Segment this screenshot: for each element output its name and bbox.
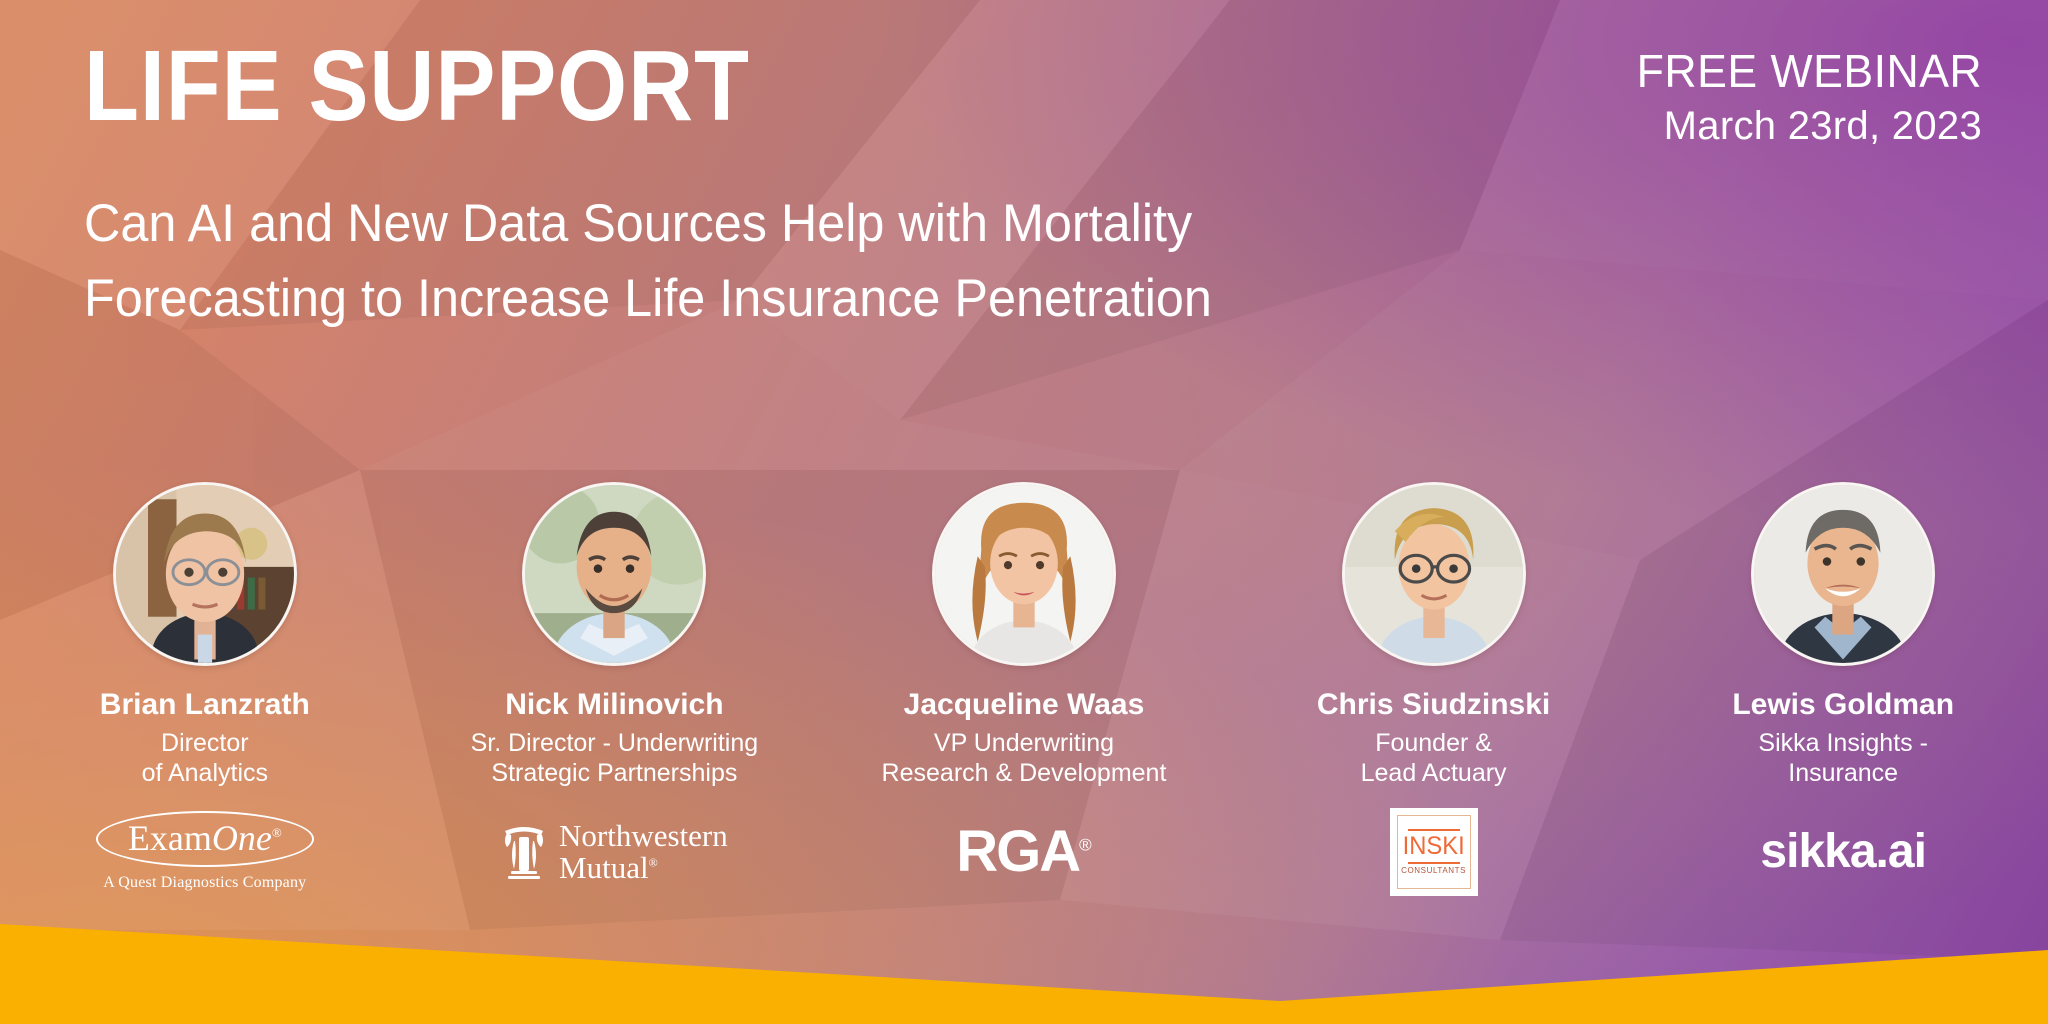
speaker-card: Chris Siudzinski Founder & Lead Actuary …: [1239, 482, 1629, 895]
speaker-role: Sikka Insights - Insurance: [1758, 728, 1928, 789]
page-title: LIFE SUPPORT: [84, 36, 750, 136]
rga-logo: RGA®: [956, 823, 1091, 881]
speaker-name: Lewis Goldman: [1732, 688, 1954, 722]
speaker-name: Nick Milinovich: [505, 688, 723, 722]
nwm-name-part1: Northwestern: [559, 820, 728, 852]
inski-consultants-logo: INSKI CONSULTANTS: [1390, 808, 1478, 896]
company-logo: sikka.ai: [1760, 809, 1925, 895]
speaker-name: Brian Lanzrath: [100, 688, 310, 722]
company-logo: ExamOne® A Quest Diagnostics Company: [96, 809, 314, 895]
speaker-role-line-2: Research & Development: [882, 758, 1167, 789]
company-logo: INSKI CONSULTANTS: [1390, 809, 1478, 895]
webinar-date: March 23rd, 2023: [1626, 101, 1982, 151]
speaker-role-line-1: Director: [142, 728, 268, 759]
speaker-role-line-1: Founder &: [1361, 728, 1507, 759]
speaker-name: Chris Siudzinski: [1317, 688, 1550, 722]
rga-wordmark: RGA: [956, 819, 1079, 884]
speaker-role-line-1: VP Underwriting: [882, 728, 1167, 759]
speaker-role: Director of Analytics: [142, 728, 268, 789]
speaker-role: VP Underwriting Research & Development: [882, 728, 1167, 789]
company-logo: RGA®: [956, 809, 1091, 895]
speaker-role-line-1: Sr. Director - Underwriting: [471, 728, 759, 759]
registered-mark: ®: [649, 855, 658, 869]
avatar: [1342, 482, 1526, 666]
bottom-accent-band: [0, 894, 2048, 1024]
examone-wordmark: ExamOne®: [96, 811, 314, 867]
inski-subtitle: CONSULTANTS: [1401, 866, 1466, 875]
speaker-name: Jacqueline Waas: [904, 688, 1145, 722]
avatar: [1751, 482, 1935, 666]
company-logo: Northwestern Mutual®: [501, 809, 728, 895]
webinar-label: FREE WEBINAR: [1637, 46, 1982, 97]
avatar: [522, 482, 706, 666]
speaker-card: Brian Lanzrath Director of Analytics Exa…: [10, 482, 400, 895]
inski-rule-bottom: [1408, 862, 1460, 864]
inski-wordmark: INSKI: [1403, 834, 1465, 859]
northwestern-mutual-logo: Northwestern Mutual®: [501, 820, 728, 883]
webinar-info: FREE WEBINAR March 23rd, 2023: [1626, 46, 1982, 151]
ionic-column-icon: [501, 821, 547, 883]
webinar-banner: LIFE SUPPORT FREE WEBINAR March 23rd, 20…: [0, 0, 2048, 1024]
speaker-role-line-2: Lead Actuary: [1361, 758, 1507, 789]
speaker-role-line-2: Insurance: [1758, 758, 1928, 789]
registered-mark: ®: [1079, 835, 1092, 854]
speaker-role: Founder & Lead Actuary: [1361, 728, 1507, 789]
speaker-role-line-2: of Analytics: [142, 758, 268, 789]
subtitle-line-1: Can AI and New Data Sources Help with Mo…: [84, 186, 1433, 261]
registered-mark: ®: [272, 825, 282, 840]
nwm-name-part2: Mutual: [559, 850, 649, 885]
sikka-ai-logo: sikka.ai: [1760, 828, 1925, 876]
speaker-card: Lewis Goldman Sikka Insights - Insurance…: [1648, 482, 2038, 895]
speaker-list: Brian Lanzrath Director of Analytics Exa…: [0, 482, 2048, 895]
avatar: [932, 482, 1116, 666]
subtitle-line-2: Forecasting to Increase Life Insurance P…: [84, 261, 1433, 336]
speaker-role: Sr. Director - Underwriting Strategic Pa…: [471, 728, 759, 789]
webinar-subtitle: Can AI and New Data Sources Help with Mo…: [84, 186, 1433, 337]
examone-tagline: A Quest Diagnostics Company: [103, 874, 306, 892]
examone-name-part2: One: [212, 818, 272, 858]
speaker-role-line-2: Strategic Partnerships: [471, 758, 759, 789]
speaker-card: Nick Milinovich Sr. Director - Underwrit…: [419, 482, 809, 895]
inski-logo-frame: INSKI CONSULTANTS: [1397, 815, 1471, 889]
speaker-card: Jacqueline Waas VP Underwriting Research…: [829, 482, 1219, 895]
avatar: [113, 482, 297, 666]
examone-name-part1: Exam: [128, 818, 212, 858]
northwestern-mutual-wordmark: Northwestern Mutual®: [559, 820, 728, 883]
speaker-role-line-1: Sikka Insights -: [1758, 728, 1928, 759]
examone-logo: ExamOne® A Quest Diagnostics Company: [96, 811, 314, 892]
inski-rule-top: [1408, 829, 1460, 831]
